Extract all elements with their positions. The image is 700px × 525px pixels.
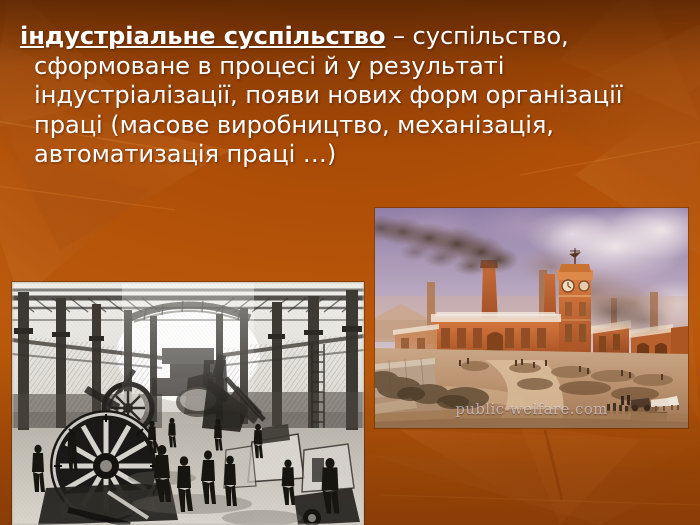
definition-paragraph: індустріальне суспільство – суспільство,… xyxy=(20,22,684,170)
painting-artwork xyxy=(375,208,688,428)
term-industrial-society: індустріальне суспільство xyxy=(20,22,385,50)
victorian-factory-painting-image: public-welfare.com xyxy=(375,208,688,428)
slide-canvas: індустріальне суспільство – суспільство,… xyxy=(0,0,700,525)
factory-interior-engraving-image xyxy=(12,282,364,525)
engraving-artwork xyxy=(12,282,364,525)
definition-text-block: індустріальне суспільство – суспільство,… xyxy=(20,22,684,170)
